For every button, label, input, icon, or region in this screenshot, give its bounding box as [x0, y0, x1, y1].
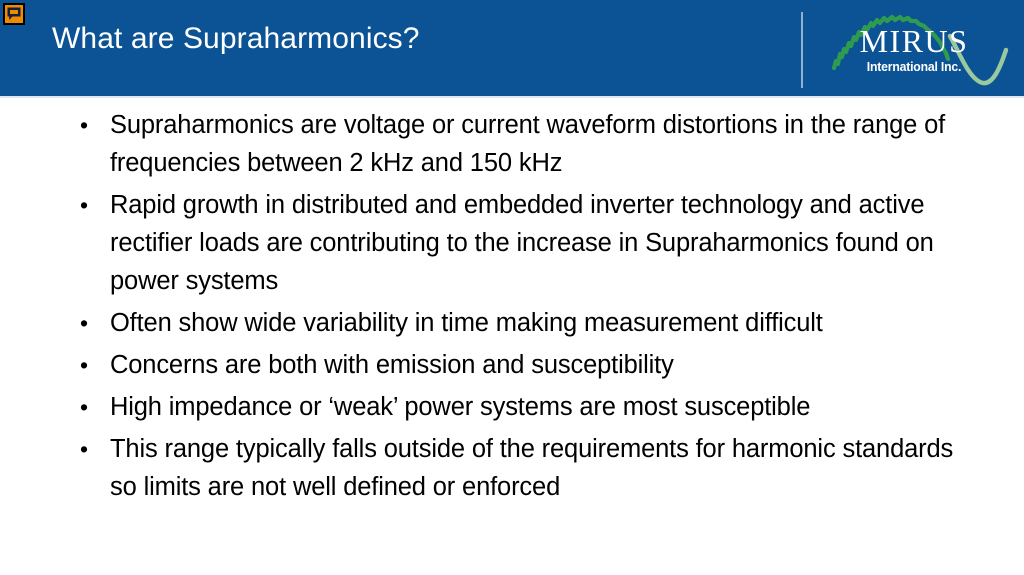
comment-marker-icon[interactable]: [3, 3, 25, 25]
bullet-text: Rapid growth in distributed and embedded…: [110, 186, 974, 300]
list-item: • High impedance or ‘weak’ power systems…: [0, 388, 1024, 426]
slide-body: • Supraharmonics are voltage or current …: [0, 100, 1024, 570]
bullet-text: Often show wide variability in time maki…: [110, 304, 974, 342]
bullet-marker: •: [80, 430, 94, 468]
bullet-marker: •: [80, 388, 94, 426]
page-title: What are Supraharmonics?: [52, 19, 772, 59]
list-item: • This range typically falls outside of …: [0, 430, 1024, 506]
bullet-text: High impedance or ‘weak’ power systems a…: [110, 388, 974, 426]
bullet-text: Supraharmonics are voltage or current wa…: [110, 106, 974, 182]
bullet-text: This range typically falls outside of th…: [110, 430, 974, 506]
list-item: • Concerns are both with emission and su…: [0, 346, 1024, 384]
bullet-marker: •: [80, 346, 94, 384]
bullet-text: Concerns are both with emission and susc…: [110, 346, 974, 384]
bullet-list: • Supraharmonics are voltage or current …: [0, 100, 1024, 506]
logo-tagline: International Inc.: [844, 60, 983, 74]
bullet-marker: •: [80, 304, 94, 342]
logo-wordmark: MIRUS: [844, 25, 984, 57]
list-item: • Rapid growth in distributed and embedd…: [0, 186, 1024, 300]
logo-divider: [801, 12, 803, 88]
bullet-marker: •: [80, 186, 94, 224]
bullet-marker: •: [80, 106, 94, 144]
mirus-logo: MIRUS International Inc.: [828, 6, 1010, 90]
list-item: • Supraharmonics are voltage or current …: [0, 106, 1024, 182]
presentation-slide: What are Supraharmonics? MIRUS Internati…: [0, 0, 1024, 575]
header-underline: [0, 96, 1024, 98]
list-item: • Often show wide variability in time ma…: [0, 304, 1024, 342]
